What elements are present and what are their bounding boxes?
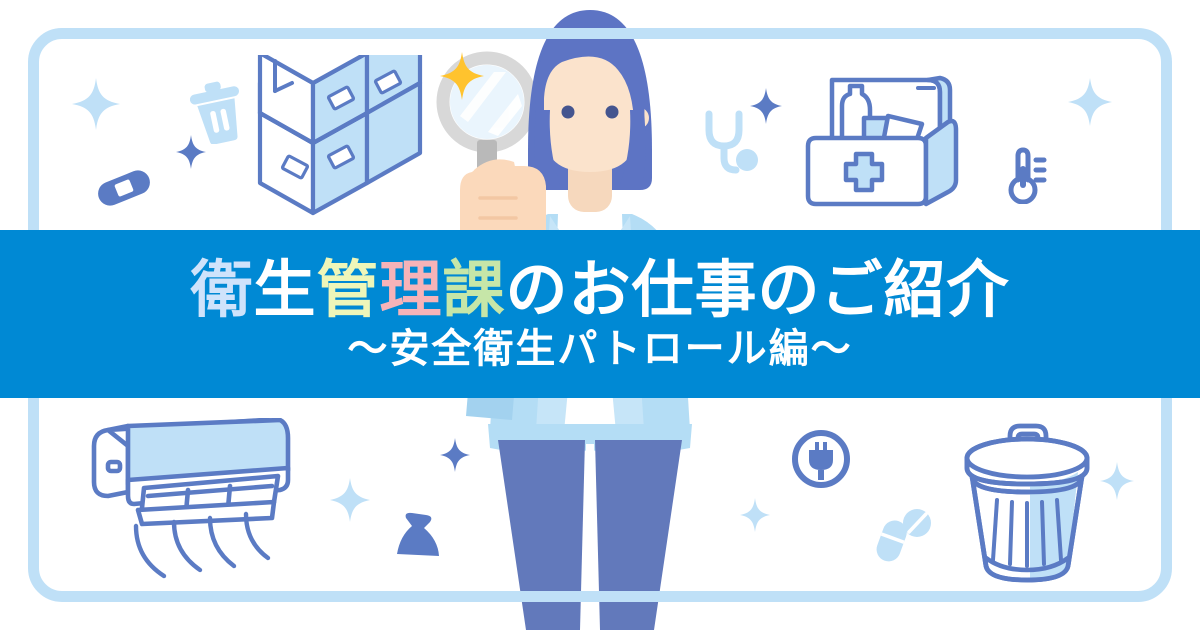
title-banner: 衛生管理課のお仕事のご紹介 ～安全衛生パトロール編～	[0, 230, 1200, 398]
title-char-4: 理	[380, 253, 443, 326]
title-char-5: 課	[443, 253, 506, 326]
title-char-3: 管	[316, 253, 379, 326]
page-title: 衛生管理課のお仕事のご紹介	[190, 258, 1009, 322]
title-rest: のお仕事のご紹介	[506, 253, 1010, 326]
page-subtitle: ～安全衛生パトロール編～	[347, 328, 852, 370]
title-char-2: 生	[253, 253, 316, 326]
poster-canvas: 衛生管理課のお仕事のご紹介 ～安全衛生パトロール編～	[0, 0, 1200, 630]
title-char-1: 衛	[190, 253, 253, 326]
